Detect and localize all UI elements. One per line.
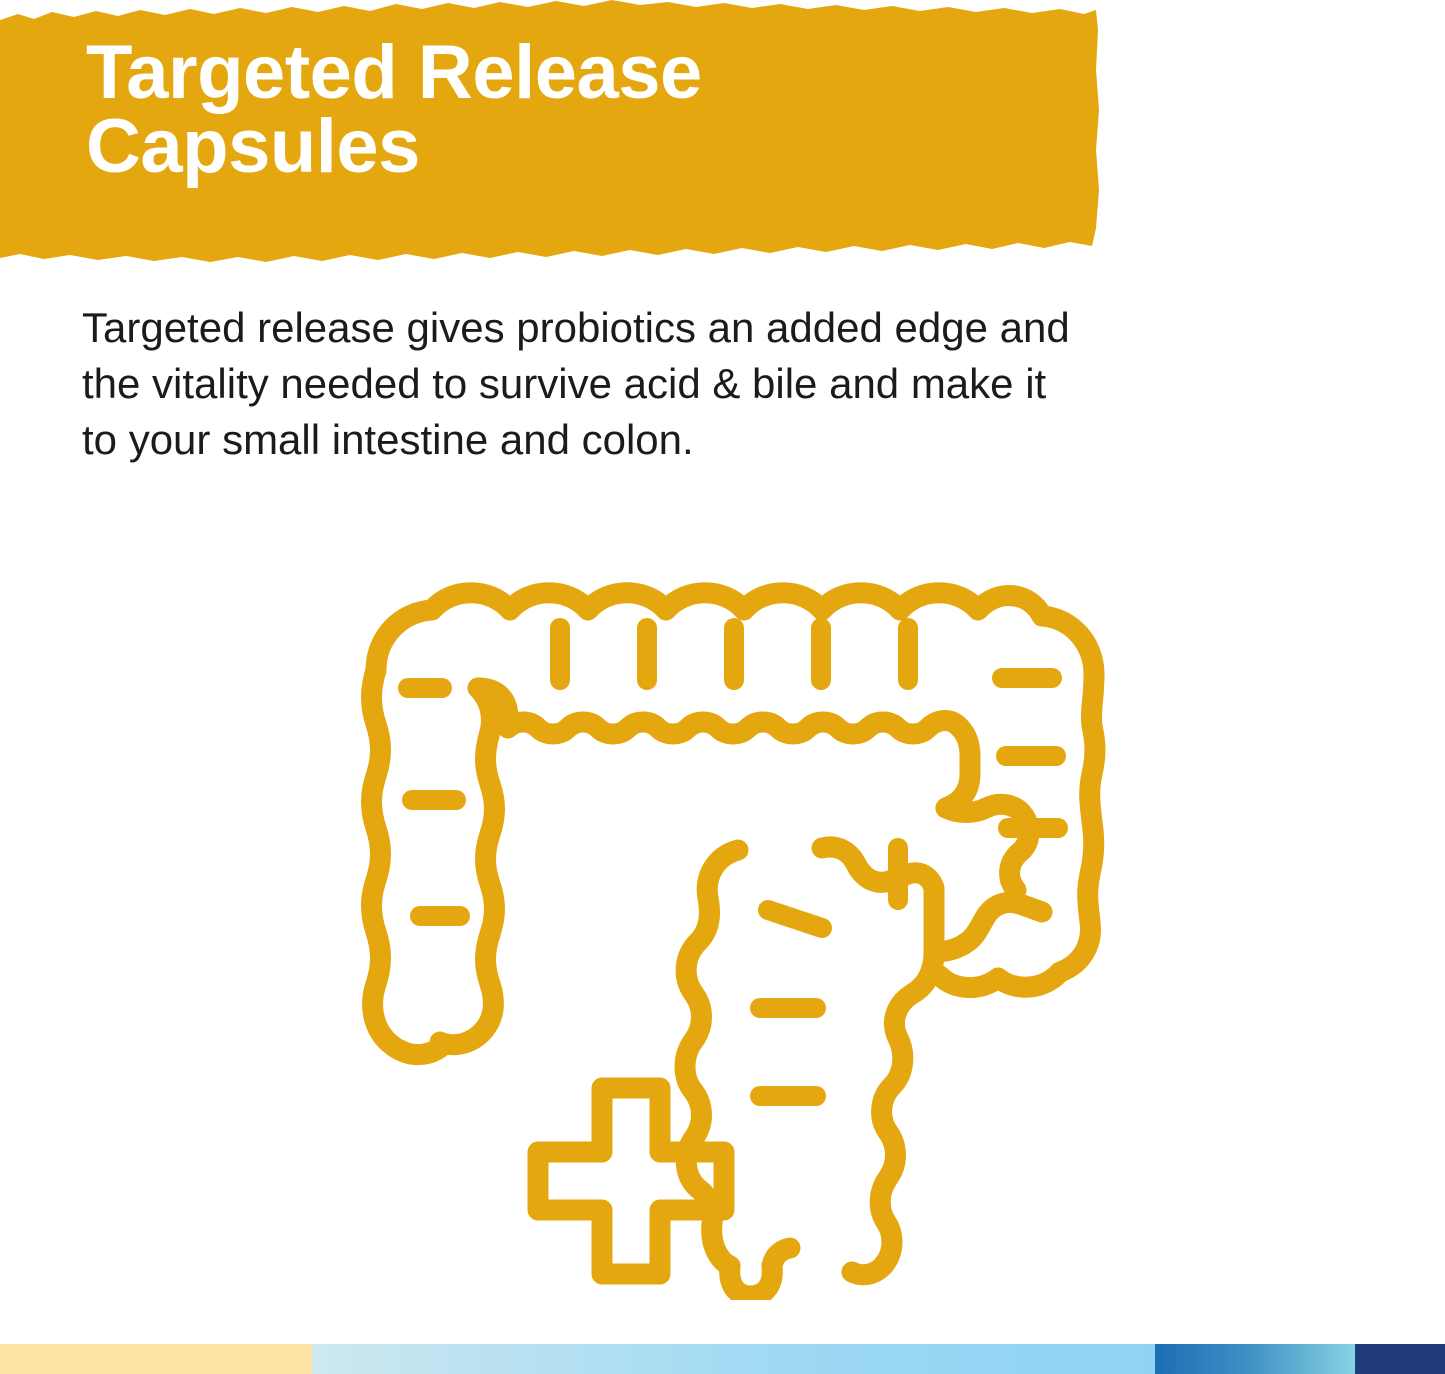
header-banner: Targeted Release Capsules [0, 0, 1110, 262]
strip-segment-navy [1355, 1344, 1445, 1374]
ascending-colon-inner-wall [440, 688, 495, 1045]
bottom-color-strip [0, 1344, 1445, 1374]
description-paragraph: Targeted release gives probiotics an add… [82, 300, 1222, 468]
sigmoid-tick-diagonal [768, 910, 822, 928]
colon-large-intestine-icon [330, 560, 1110, 1300]
ascending-colon-outer-wall [372, 670, 443, 1055]
rectum-right-edge [772, 1248, 790, 1266]
strip-segment-cream [0, 1344, 312, 1374]
transverse-colon-inner-wall [478, 688, 970, 808]
page-title: Targeted Release Capsules [86, 36, 1046, 183]
strip-segment-pale-blue [312, 1344, 1155, 1374]
sigmoid-colon-right-wall [822, 847, 934, 1275]
strip-segment-blue-teal [1155, 1344, 1355, 1374]
colon-illustration [330, 560, 1110, 1300]
transverse-haustra-ticks [560, 628, 908, 680]
sigmoid-to-descending-connector [934, 903, 1042, 953]
ascending-haustra-ticks [408, 688, 460, 916]
descending-colon-right-inner-wall [946, 804, 1029, 890]
